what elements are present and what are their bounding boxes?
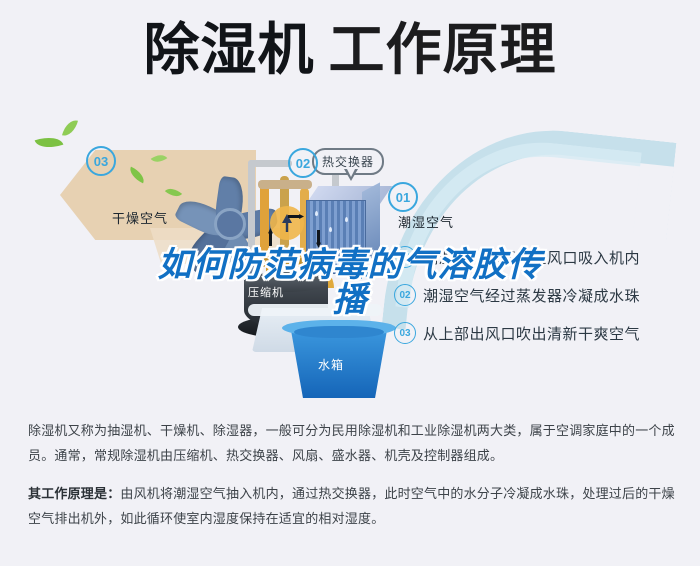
step-badge: 02 — [394, 284, 416, 306]
label-water-tank: 水箱 — [318, 356, 344, 373]
diagram-marker-02: 02 — [288, 148, 318, 178]
step-badge: 01 — [394, 246, 416, 268]
step-list: 01 潮湿空气由下部进风口吸入机内 02 潮湿空气经过蒸发器冷凝成水珠 03 从… — [394, 238, 684, 352]
step-label: 潮湿空气经过蒸发器冷凝成水珠 — [423, 285, 640, 306]
diagram-marker-03: 03 — [86, 146, 116, 176]
page-title: 除湿机工作原理 — [0, 22, 700, 78]
page-title-part2: 工作原理 — [329, 18, 557, 81]
label-dry-air: 干燥空气 — [112, 208, 168, 227]
drain-pan-lip-icon — [248, 304, 382, 316]
pipe-icon — [248, 160, 255, 260]
step-label: 从上部出风口吹出清新干爽空气 — [423, 323, 640, 344]
paragraph-intro: 除湿机又称为抽湿机、干燥机、除湿器，一般可分为民用除湿机和工业除湿机两大类，属于… — [28, 418, 676, 469]
diagram-marker-01: 01 — [388, 182, 418, 212]
paragraph-principle-text: 由风机将潮湿空气抽入机内，通过热交换器，此时空气中的水分子冷凝成水珠，处理过后的… — [28, 486, 675, 526]
list-item: 02 潮湿空气经过蒸发器冷凝成水珠 — [394, 276, 684, 314]
heat-exchanger-callout: 热交换器 — [312, 148, 384, 175]
label-compressor: 压缩机 — [248, 284, 284, 300]
leaf-icon — [35, 132, 64, 152]
body-copy: 除湿机又称为抽湿机、干燥机、除湿器，一般可分为民用除湿机和工业除湿机两大类，属于… — [28, 418, 676, 531]
poster-canvas: 除湿机工作原理 — [0, 0, 700, 566]
water-tank-inner-icon — [294, 326, 384, 338]
step-label: 潮湿空气由下部进风口吸入机内 — [423, 247, 640, 268]
step-badge: 03 — [394, 322, 416, 344]
page-title-part1: 除湿机 — [144, 18, 315, 81]
paragraph-principle: 其工作原理是：由风机将潮湿空气抽入机内，通过热交换器，此时空气中的水分子冷凝成水… — [28, 481, 676, 532]
list-item: 03 从上部出风口吹出清新干爽空气 — [394, 314, 684, 352]
heat-exchanger-icon — [306, 186, 380, 272]
label-humid-air: 潮湿空气 — [398, 212, 454, 231]
leaf-icon — [62, 118, 78, 138]
list-item: 01 潮湿空气由下部进风口吸入机内 — [394, 238, 684, 276]
pipe-icon — [248, 160, 292, 167]
paragraph-principle-label: 其工作原理是： — [28, 486, 120, 501]
